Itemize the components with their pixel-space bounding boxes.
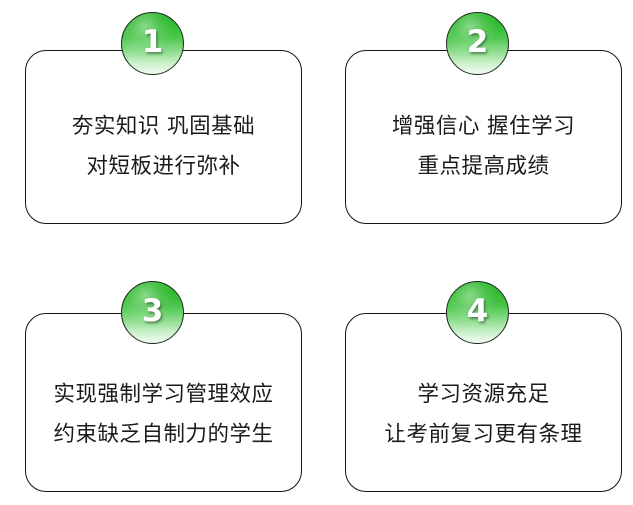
number-badge-2-label: 2 (467, 27, 489, 58)
number-badge-1: 1 (121, 12, 184, 75)
info-card-3-text: 实现强制学习管理效应 约束缺乏自制力的学生 (53, 375, 273, 455)
info-card-4-text: 学习资源充足 让考前复习更有条理 (384, 375, 582, 455)
number-badge-1-label: 1 (142, 27, 164, 58)
info-card-1-line-1: 夯实知识 巩固基础 (72, 107, 255, 147)
info-card-1[interactable]: 夯实知识 巩固基础 对短板进行弥补 (25, 50, 302, 224)
info-card-2[interactable]: 增强信心 握住学习 重点提高成绩 (345, 50, 622, 224)
number-badge-3-label: 3 (142, 296, 164, 327)
info-card-1-line-2: 对短板进行弥补 (72, 147, 255, 187)
number-badge-2: 2 (446, 12, 509, 75)
info-card-4-line-1: 学习资源充足 (384, 375, 582, 415)
number-badge-4: 4 (446, 281, 509, 344)
number-badge-4-label: 4 (467, 296, 489, 327)
info-card-2-line-1: 增强信心 握住学习 (392, 107, 575, 147)
info-card-3-line-1: 实现强制学习管理效应 (53, 375, 273, 415)
info-card-4-line-2: 让考前复习更有条理 (384, 415, 582, 455)
info-card-2-line-2: 重点提高成绩 (392, 147, 575, 187)
info-card-3-line-2: 约束缺乏自制力的学生 (53, 415, 273, 455)
info-card-1-text: 夯实知识 巩固基础 对短板进行弥补 (72, 107, 255, 187)
info-card-2-text: 增强信心 握住学习 重点提高成绩 (392, 107, 575, 187)
infographic-canvas: 夯实知识 巩固基础 对短板进行弥补 1 增强信心 握住学习 重点提高成绩 2 实… (0, 0, 633, 505)
number-badge-3: 3 (121, 281, 184, 344)
